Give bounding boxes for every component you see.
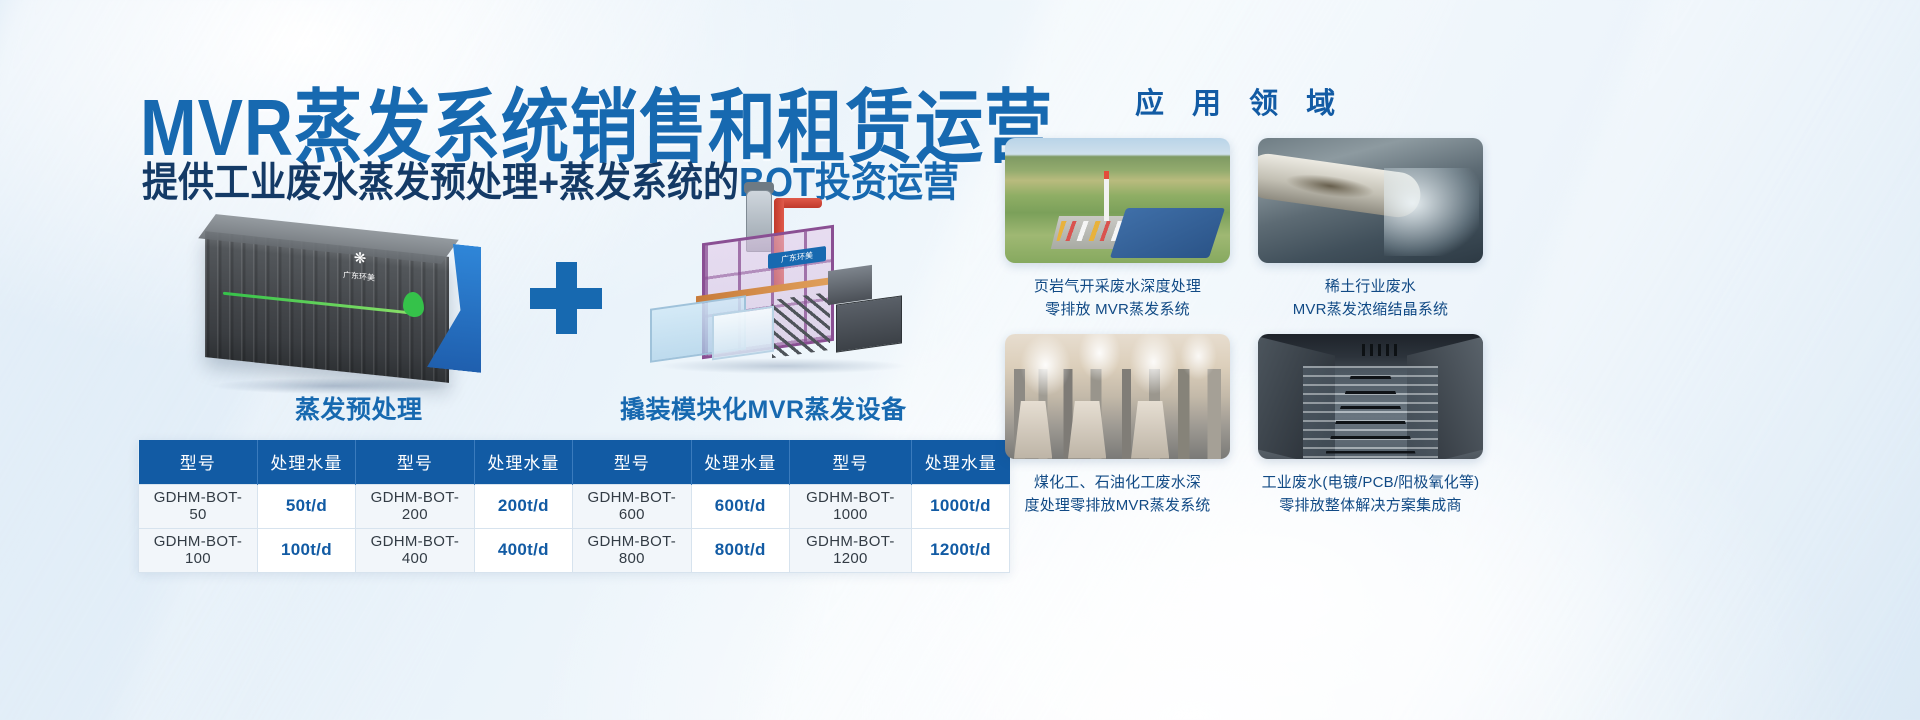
- card-caption-line-1: 页岩气开采废水深度处理: [1005, 275, 1230, 298]
- application-card-grid: 页岩气开采废水深度处理 零排放 MVR蒸发系统 稀土行业废水 MVR蒸发浓缩结晶…: [1005, 138, 1483, 517]
- drilling-rig: [1104, 171, 1109, 221]
- column-header: 处理水量: [474, 440, 572, 484]
- table-cell-model: GDHM-BOT-100: [139, 528, 258, 572]
- product-caption-pretreatment: 蒸发预处理: [295, 390, 423, 426]
- spec-table-head: 型号 处理水量 型号 处理水量 型号 处理水量 型号 处理水量: [139, 440, 1010, 484]
- table-cell-flow: 600t/d: [691, 484, 789, 528]
- table-cell-flow: 1200t/d: [911, 528, 1009, 572]
- table-cell-flow: 100t/d: [257, 528, 355, 572]
- evaporation-pretreatment-unit-illustration: ❋ 广东环美: [205, 228, 475, 388]
- water-spray: [1384, 168, 1479, 256]
- application-card-rare-earth[interactable]: 稀土行业废水 MVR蒸发浓缩结晶系统: [1258, 138, 1483, 322]
- table-cell-flow: 800t/d: [691, 528, 789, 572]
- card-caption: 工业废水(电镀/PCB/阳极氧化等) 零排放整体解决方案集成商: [1258, 471, 1483, 518]
- equipment-box-lower: [836, 295, 902, 352]
- card-caption: 页岩气开采废水深度处理 零排放 MVR蒸发系统: [1005, 275, 1230, 322]
- coal-chemical-petrochemical-plant-photo: [1005, 334, 1230, 459]
- table-cell-flow: 50t/d: [257, 484, 355, 528]
- card-caption-line-1: 稀土行业废水: [1258, 275, 1483, 298]
- table-cell-flow: 400t/d: [474, 528, 572, 572]
- table-row: GDHM-BOT-50 50t/d GDHM-BOT-200 200t/d GD…: [139, 484, 1010, 528]
- card-caption-line-2: 零排放 MVR蒸发系统: [1005, 298, 1230, 321]
- table-cell-model: GDHM-BOT-600: [572, 484, 691, 528]
- column-header: 处理水量: [691, 440, 789, 484]
- card-image: [1005, 334, 1230, 459]
- workers: [1362, 344, 1398, 357]
- card-caption: 煤化工、石油化工废水深 度处理零排放MVR蒸发系统: [1005, 471, 1230, 518]
- skid-mounted-mvr-illustration: 广东环美: [650, 190, 940, 390]
- column-header: 型号: [789, 440, 911, 484]
- table-cell-model: GDHM-BOT-800: [572, 528, 691, 572]
- column-header: 处理水量: [257, 440, 355, 484]
- shale-gas-drilling-site-photo: [1005, 138, 1230, 263]
- table-cell-model: GDHM-BOT-50: [139, 484, 258, 528]
- applications-title: 应 用 领 域: [1135, 80, 1345, 122]
- table-row: GDHM-BOT-100 100t/d GDHM-BOT-400 400t/d …: [139, 528, 1010, 572]
- product-caption-skid-mvr: 撬装模块化MVR蒸发设备: [620, 390, 907, 426]
- spec-table: 型号 处理水量 型号 处理水量 型号 处理水量 型号 处理水量 GDHM-BOT…: [138, 440, 1010, 573]
- application-card-coal-chemical[interactable]: 煤化工、石油化工废水深 度处理零排放MVR蒸发系统: [1005, 334, 1230, 518]
- card-caption-line-1: 煤化工、石油化工废水深: [1005, 471, 1230, 494]
- table-cell-flow: 1000t/d: [911, 484, 1009, 528]
- application-card-shale-gas[interactable]: 页岩气开采废水深度处理 零排放 MVR蒸发系统: [1005, 138, 1230, 322]
- application-card-industrial-wastewater[interactable]: 工业废水(电镀/PCB/阳极氧化等) 零排放整体解决方案集成商: [1258, 334, 1483, 518]
- card-image: [1005, 138, 1230, 263]
- table-cell-model: GDHM-BOT-400: [355, 528, 474, 572]
- table-cell-model: GDHM-BOT-1000: [789, 484, 911, 528]
- container-blue-accent: [427, 241, 481, 373]
- card-caption: 稀土行业废水 MVR蒸发浓缩结晶系统: [1258, 275, 1483, 322]
- trucks: [1057, 221, 1170, 241]
- equipment-box-upper: [828, 265, 872, 305]
- clear-tank-front: [712, 306, 774, 361]
- card-caption-line-1: 工业废水(电镀/PCB/阳极氧化等): [1258, 471, 1483, 494]
- left-content-area: MVR蒸发系统销售和租赁运营 提供工业废水蒸发预处理+蒸发系统的BOT投资运营 …: [0, 0, 1010, 720]
- card-caption-line-2: 零排放整体解决方案集成商: [1258, 494, 1483, 517]
- access-stairs: [772, 292, 830, 358]
- card-image: [1258, 138, 1483, 263]
- smoke-plumes: [1005, 334, 1230, 404]
- table-cell-model: GDHM-BOT-1200: [789, 528, 911, 572]
- rare-earth-wastewater-pipe-photo: [1258, 138, 1483, 263]
- table-header-row: 型号 处理水量 型号 处理水量 型号 处理水量 型号 处理水量: [139, 440, 1010, 484]
- plus-icon: [530, 262, 602, 334]
- spec-table-body: GDHM-BOT-50 50t/d GDHM-BOT-200 200t/d GD…: [139, 484, 1010, 572]
- column-header: 处理水量: [911, 440, 1009, 484]
- table-cell-flow: 200t/d: [474, 484, 572, 528]
- column-header: 型号: [355, 440, 474, 484]
- table-cell-model: GDHM-BOT-200: [355, 484, 474, 528]
- card-caption-line-2: 度处理零排放MVR蒸发系统: [1005, 494, 1230, 517]
- card-caption-line-2: MVR蒸发浓缩结晶系统: [1258, 298, 1483, 321]
- banner-stage: MVR蒸发系统销售和租赁运营 提供工业废水蒸发预处理+蒸发系统的BOT投资运营 …: [0, 0, 1920, 720]
- column-header: 型号: [572, 440, 691, 484]
- skid-ground-shadow: [658, 358, 908, 374]
- column-header: 型号: [139, 440, 258, 484]
- applications-area: 应 用 领 域 页岩气开采废水深度处理 零排放 MVR蒸发系统: [1005, 0, 1920, 720]
- industrial-wastewater-basin-photo: [1258, 334, 1483, 459]
- card-image: [1258, 334, 1483, 459]
